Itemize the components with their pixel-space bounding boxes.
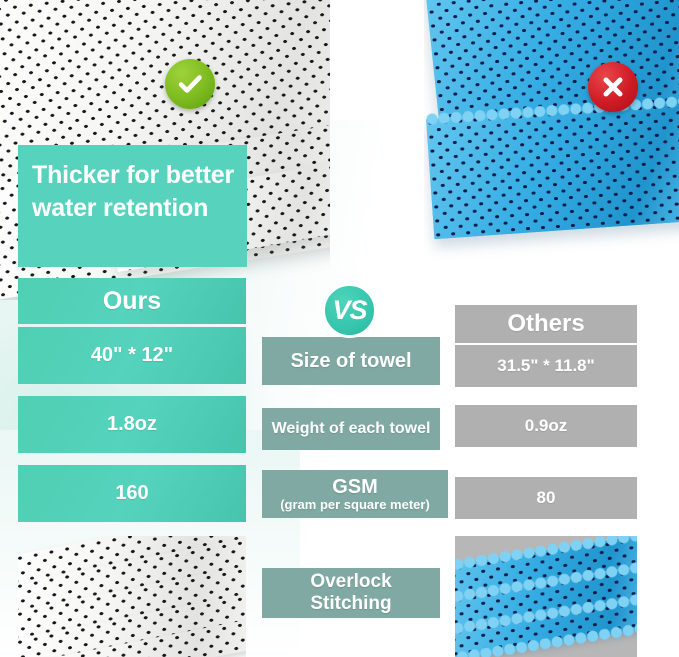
photo-blue-towel-edge [455,536,637,657]
photo-white-towel-stitching [18,536,246,657]
ours-value-size: 40" * 12" [18,327,246,384]
headline-line-1: Thicker for better [32,159,235,192]
others-value-gsm: 80 [455,477,637,519]
towel-fold [426,101,679,239]
attribute-label-weight: Weight of each towel [262,408,440,450]
infographic-canvas: Thicker for better water retention Ours … [0,0,679,657]
gsm-title: GSM [332,476,378,498]
attribute-label-gsm: GSM (gram per square meter) [262,470,448,518]
others-value-size: 31.5" * 11.8" [455,345,637,387]
ours-value-gsm: 160 [18,465,246,522]
others-column-header: Others [455,305,637,343]
vs-badge-icon: VS [322,283,377,338]
ours-value-weight: 1.8oz [18,396,246,453]
attribute-label-size: Size of towel [262,337,440,385]
overlock-line-1: Overlock [310,571,391,593]
check-badge-icon [165,59,215,109]
ours-column-header: Ours [18,278,246,324]
overlock-line-2: Stitching [310,593,391,615]
photo-blue-towel-top [424,0,679,282]
headline-banner: Thicker for better water retention [18,145,247,267]
others-value-weight: 0.9oz [455,405,637,447]
attribute-label-overlock: Overlock Stitching [262,568,440,618]
headline-line-2: water retention [32,192,235,225]
gsm-subtitle: (gram per square meter) [280,498,430,512]
cross-badge-icon [588,62,638,112]
